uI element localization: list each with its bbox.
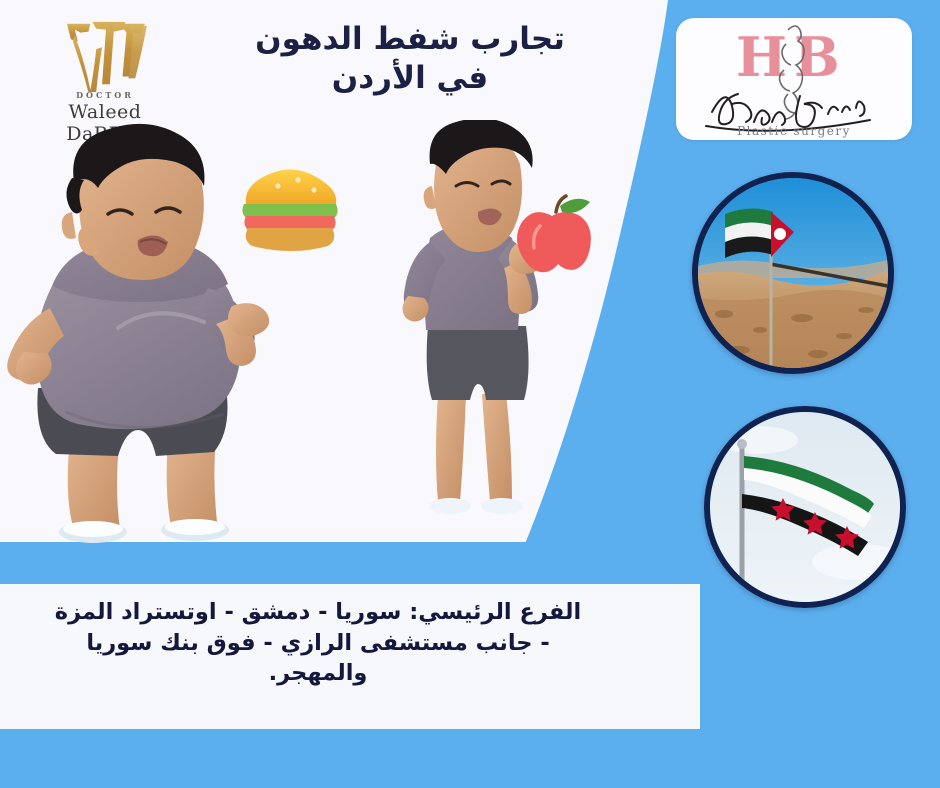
branch-address: الفرع الرئيسي: سوريا - دمشق - اوتستراد ا… [8,597,628,689]
hamburger-icon [242,169,337,251]
jordan-flag-illustration [698,178,888,368]
address-line-1: الفرع الرئيسي: سوريا - دمشق - اوتستراد ا… [8,597,628,628]
plastic-surgery-tagline: Plastic surgery [737,124,851,138]
obese-boy-figure [7,124,337,543]
page-title-line-1: تجارب شفط الدهون [255,21,565,57]
page-title: تجارب شفط الدهون في الأردن [200,20,620,98]
address-line-2: - جانب مستشفى الرازي - فوق بنك سوريا [8,628,628,659]
jordan-flag-photo [692,172,894,374]
address-line-3: والمهجر. [8,658,628,689]
apple-icon [517,196,591,272]
syria-flag-photo [704,406,906,608]
slim-boy-figure [402,120,590,514]
haifaa-bittar-brand-card: H B Plastic surgery [676,18,912,140]
syria-flag-illustration [710,412,900,602]
doctor-word-label: DOCTOR [30,90,180,100]
page-title-line-2: في الأردن [200,59,620,98]
poster-canvas: تجارب شفط الدهون في الأردن DOCTOR Waleed… [0,0,940,788]
w-monogram-icon [30,16,180,94]
hb-logo-icon: H B Plastic surgery [676,18,912,140]
before-after-illustration [0,120,620,545]
